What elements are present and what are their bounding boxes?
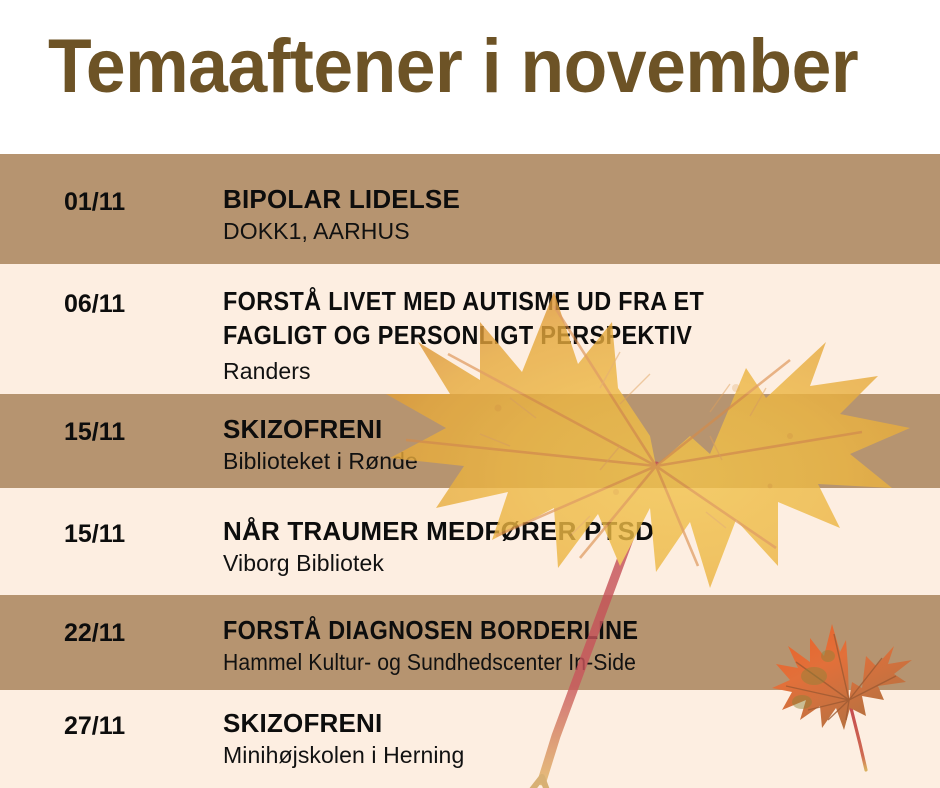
event-date: 15/11 <box>64 418 125 447</box>
event-place: Randers <box>223 356 930 386</box>
event-title: FORSTÅ DIAGNOSEN BORDERLINE <box>223 613 859 647</box>
event-title: SKIZOFRENI <box>223 412 930 446</box>
event-place: Minihøjskolen i Herning <box>223 740 930 770</box>
event-place: Viborg Bibliotek <box>223 548 930 578</box>
event-title: BIPOLAR LIDELSE <box>223 182 930 216</box>
page-title: Temaaftener i november <box>48 24 858 110</box>
event-date: 15/11 <box>64 520 125 549</box>
event-title: NÅR TRAUMER MEDFØRER PTSD <box>223 514 930 548</box>
event-title: SKIZOFRENI <box>223 706 930 740</box>
event-list: 01/11 BIPOLAR LIDELSE DOKK1, AARHUS 06/1… <box>0 152 940 788</box>
title-banner: Temaaftener i november <box>0 0 940 152</box>
table-row: 15/11 NÅR TRAUMER MEDFØRER PTSD Viborg B… <box>0 488 940 595</box>
poster: 01/11 BIPOLAR LIDELSE DOKK1, AARHUS 06/1… <box>0 0 940 788</box>
event-place: Hammel Kultur- og Sundhedscenter In-Side <box>223 647 873 677</box>
event-title-line1: FORSTÅ LIVET MED AUTISME UD FRA ET <box>223 284 859 318</box>
table-row: 06/11 FORSTÅ LIVET MED AUTISME UD FRA ET… <box>0 264 940 394</box>
event-date: 06/11 <box>64 290 125 319</box>
event-place: DOKK1, AARHUS <box>223 216 930 246</box>
event-place: Biblioteket i Rønde <box>223 446 930 476</box>
event-date: 27/11 <box>64 712 125 741</box>
table-row: 27/11 SKIZOFRENI Minihøjskolen i Herning <box>0 690 940 788</box>
event-date: 22/11 <box>64 619 125 648</box>
table-row: 15/11 SKIZOFRENI Biblioteket i Rønde <box>0 394 940 488</box>
event-title-line2: FAGLIGT OG PERSONLIGT PERSPEKTIV <box>223 318 859 352</box>
event-date: 01/11 <box>64 188 125 217</box>
table-row: 01/11 BIPOLAR LIDELSE DOKK1, AARHUS <box>0 154 940 264</box>
table-row: 22/11 FORSTÅ DIAGNOSEN BORDERLINE Hammel… <box>0 595 940 690</box>
